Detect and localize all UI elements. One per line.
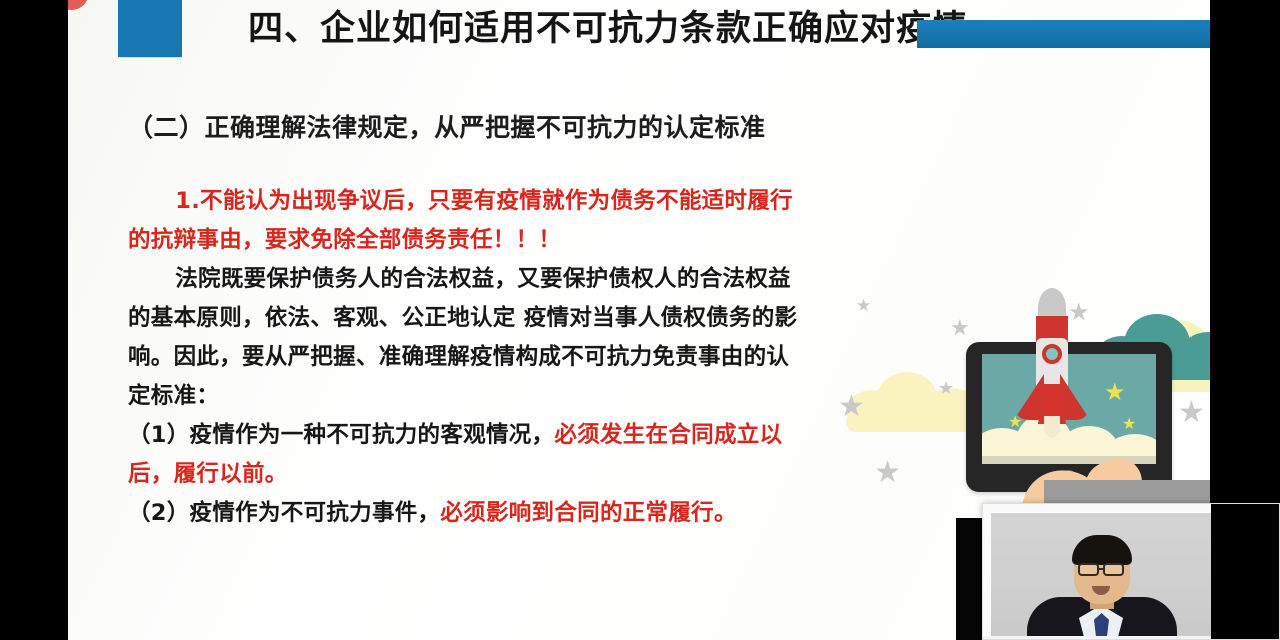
slide-title-row: 四、企业如何适用不可抗力条款正确应对疫情 — [118, 0, 1210, 62]
video-feed — [991, 513, 1211, 640]
blue-square-marker-icon — [118, 0, 182, 57]
list-item-1-black: （1）疫情作为一种不可抗力的客观情况， — [128, 422, 554, 448]
slide-title: 四、企业如何适用不可抗力条款正确应对疫情 — [248, 4, 968, 54]
rocket-porthole — [1042, 344, 1062, 364]
star-icon: ★ — [938, 380, 954, 398]
pillarbox-left — [0, 0, 68, 640]
video-letterbox-right — [1211, 504, 1280, 640]
paragraph-body-court: 法院既要保护债务人的合法权益，又要保护债权人的合法权益的基本原则，依法、客观、公… — [128, 260, 808, 416]
star-icon: ★ — [1178, 398, 1205, 428]
glasses-lens-right-icon — [1103, 563, 1124, 576]
glasses-lens-left-icon — [1078, 563, 1099, 576]
list-item-2-black: （2）疫情作为不可抗力事件， — [128, 500, 440, 526]
glasses-bridge-icon — [1098, 568, 1104, 570]
presenter-hair — [1072, 535, 1132, 565]
screen-capture: 四、企业如何适用不可抗力条款正确应对疫情 （二）正确理解法律规定，从严把握不可抗… — [0, 0, 1280, 640]
blue-rule-bar-decoration — [917, 20, 1210, 48]
star-icon: ★ — [1122, 416, 1136, 432]
slide-subtitle: （二）正确理解法律规定，从严把握不可抗力的认定标准 — [128, 108, 766, 144]
list-item-1: （1）疫情作为一种不可抗力的客观情况，必须发生在合同成立以后，履行以前。 — [128, 416, 808, 494]
star-icon: ★ — [856, 298, 871, 315]
list-item-2: （2）疫情作为不可抗力事件，必须影响到合同的正常履行。 — [128, 494, 808, 533]
video-bottom-edge — [983, 636, 1211, 639]
rocket-flame — [1044, 416, 1060, 438]
rocket-icon — [1010, 288, 1096, 438]
red-circle-fragment-decoration — [68, 0, 88, 10]
star-icon: ★ — [838, 392, 865, 422]
star-icon: ★ — [950, 318, 970, 340]
star-icon: ★ — [874, 458, 901, 488]
presenter-video-overlay[interactable] — [982, 503, 1280, 640]
paragraph-point-1-red: 1.不能认为出现争议后，只要有疫情就作为债务不能适时履行的抗辩事由，要求免除全部… — [128, 182, 808, 260]
star-icon: ★ — [1104, 380, 1126, 404]
list-item-2-red: 必须影响到合同的正常履行。 — [440, 500, 736, 526]
slide-body: 1.不能认为出现争议后，只要有疫情就作为债务不能适时履行的抗辩事由，要求免除全部… — [128, 182, 808, 533]
